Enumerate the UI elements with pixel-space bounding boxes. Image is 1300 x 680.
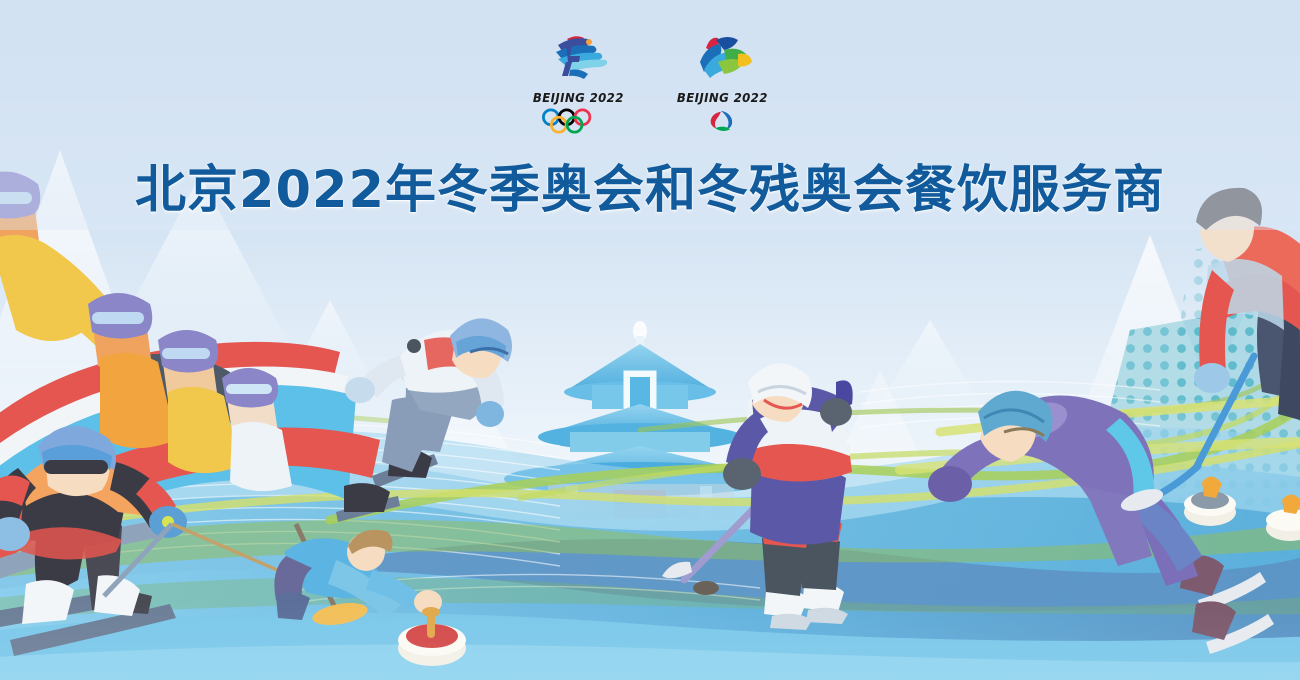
page-title: 北京2022年冬季奥会和冬残奥会餐饮服务商 [0,148,1300,222]
beijing-2022-olympic-logo: BEIJING 2022 [528,32,628,134]
olympic-emblem-icon [536,32,620,88]
olympic-rings-icon [536,108,620,134]
paralympic-emblem-icon [680,32,764,88]
logo-row: BEIJING 2022 B [0,32,1300,134]
beijing-2022-paralympic-logo: BEIJING 2022 [672,32,772,134]
paralympic-wordmark: BEIJING 2022 [677,90,768,105]
olympic-wordmark: BEIJING 2022 [533,90,624,105]
beijing-2022-banner: BEIJING 2022 B [0,0,1300,680]
agitos-icon [680,108,764,134]
